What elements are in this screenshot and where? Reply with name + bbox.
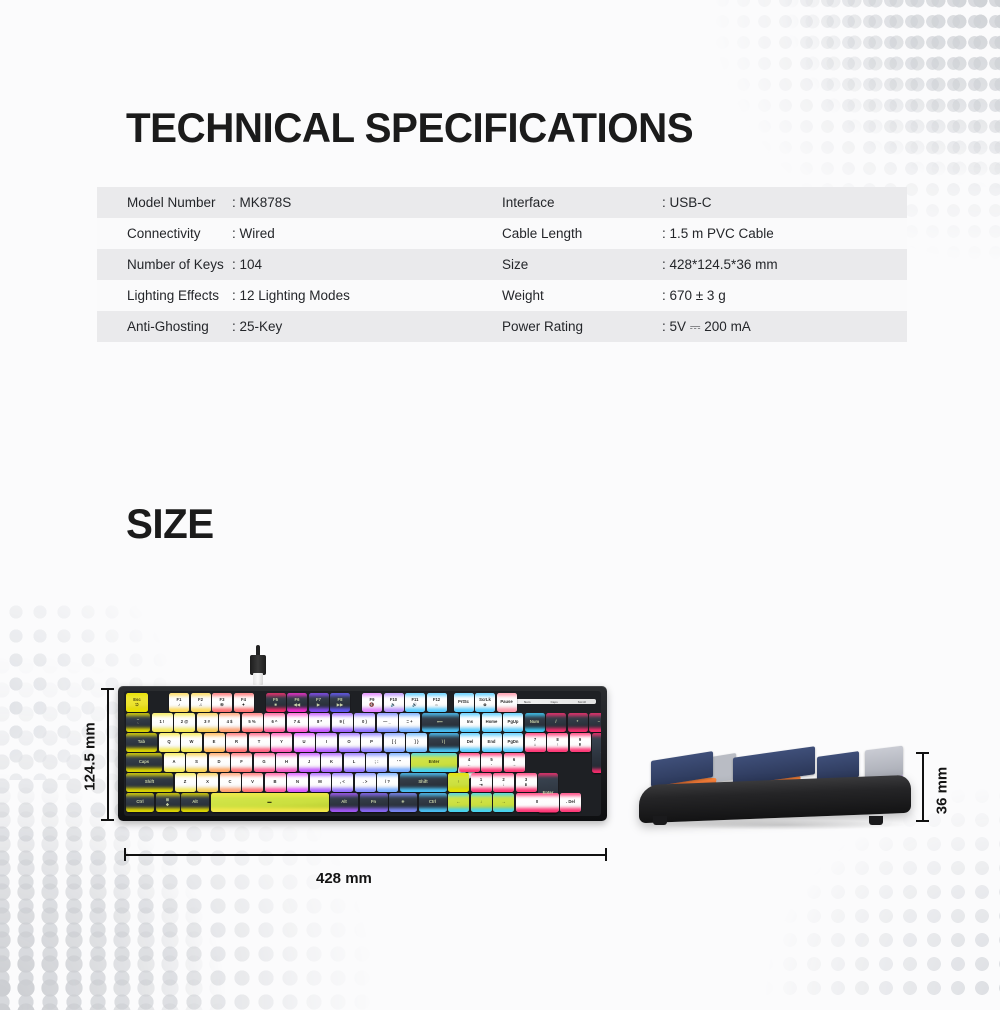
key-rgb-glow: [299, 768, 320, 772]
keycap-legend: Y: [280, 740, 283, 745]
spec-label-left: Model Number: [97, 195, 232, 210]
keycap[interactable]: K: [321, 753, 342, 772]
key-rgb-glow: [354, 728, 375, 732]
keycap[interactable]: M: [310, 773, 331, 792]
key-rgb-glow-top: [419, 793, 447, 796]
key-rgb-glow-top: [126, 713, 150, 716]
keycap[interactable]: F9 🔇: [362, 693, 382, 712]
key-rgb-glow-top: [266, 693, 286, 696]
key-spacer: [352, 693, 361, 712]
keycap[interactable]: Num: [525, 713, 545, 732]
key-rgb-glow: [181, 808, 209, 812]
spec-row: Number of Keys: 104Size: 428*124.5*36 mm: [97, 249, 907, 280]
keycap-legend: ScrLk ⊗: [479, 698, 491, 708]
keycap[interactable]: Alt: [330, 793, 358, 812]
keycap[interactable]: F3 ✇: [212, 693, 232, 712]
keycap-legend: V: [251, 780, 254, 785]
key-rgb-glow-top: [570, 733, 591, 736]
keycap[interactable]: 3 #: [197, 713, 218, 732]
key-rgb-glow-top: [560, 793, 581, 796]
keycap-legend: ☀: [401, 800, 405, 805]
key-rgb-glow: [181, 748, 202, 752]
key-rgb-glow-top: [354, 713, 375, 716]
keycap[interactable]: ⟵: [422, 713, 459, 732]
keycap[interactable]: Del: [460, 733, 480, 752]
keycap-legend: ↓: [480, 800, 482, 805]
key-rgb-glow-top: [460, 713, 480, 716]
keycap[interactable]: = +: [399, 713, 420, 732]
key-rgb-glow: [459, 768, 480, 772]
keycap-legend: C: [228, 780, 231, 785]
keycap[interactable]: Enter: [411, 753, 457, 772]
keycap[interactable]: 4 $: [219, 713, 240, 732]
spec-label-right: Weight: [502, 288, 662, 303]
key-rgb-glow-top: [175, 773, 196, 776]
keycap[interactable]: ☀: [389, 793, 417, 812]
key-rgb-glow-top: [197, 773, 218, 776]
key-rgb-glow-top: [384, 693, 404, 696]
keycap[interactable]: F2 ♫: [191, 693, 211, 712]
key-rgb-glow: [316, 748, 337, 752]
key-rgb-glow: [454, 708, 474, 712]
key-rgb-glow: [169, 708, 189, 712]
keycap-legend: PgDn: [508, 740, 519, 745]
keycap[interactable]: 4 ←: [459, 753, 480, 772]
keycap[interactable]: ↓: [471, 793, 492, 812]
key-rgb-glow: [422, 728, 459, 732]
keycap-legend: F5 ■: [273, 698, 278, 708]
keycap-legend: 1 ⇥: [479, 778, 483, 788]
spec-value-right: : USB-C: [662, 195, 902, 210]
keycap-legend: 2 ↓: [502, 778, 504, 788]
keycap[interactable]: *: [568, 713, 588, 732]
key-rgb-glow-top: [309, 693, 329, 696]
usb-connector-tip: [253, 673, 263, 685]
key-rgb-glow: [377, 788, 398, 792]
keycap-legend: ↑: [457, 780, 459, 785]
keycap[interactable]: 9 (: [332, 713, 353, 732]
key-rgb-glow: [497, 708, 517, 712]
keycap[interactable]: H: [276, 753, 297, 772]
key-rgb-glow-top: [332, 713, 353, 716]
keyboard-foot-right: [869, 816, 883, 825]
keyboard-side-view: [637, 738, 917, 830]
keycap[interactable]: F12 ☼: [427, 693, 447, 712]
key-rgb-glow-top: [384, 733, 405, 736]
keycap[interactable]: F10 🔉: [384, 693, 404, 712]
key-rgb-glow-top: [211, 793, 329, 796]
keycap[interactable]: F8 ▶▶: [330, 693, 350, 712]
keycap-legend: / ?: [385, 780, 390, 785]
spec-value-right: : 5V ⎓ 200 mA: [662, 319, 902, 335]
keycap[interactable]: / ?: [377, 773, 398, 792]
key-rgb-glow-top: [547, 733, 568, 736]
keycap-legend: F9 🔇: [369, 698, 374, 708]
keycap[interactable]: F4 ✦: [234, 693, 254, 712]
keycap[interactable]: ▬: [211, 793, 329, 812]
key-rgb-glow: [560, 808, 581, 812]
keycap[interactable]: 5 %: [242, 713, 263, 732]
keycap[interactable]: /: [546, 713, 566, 732]
keycap[interactable]: S: [186, 753, 207, 772]
height-dimension-line: [107, 688, 109, 821]
keycap[interactable]: X: [197, 773, 218, 792]
keycap-legend: 6 →: [512, 758, 516, 768]
key-rgb-glow: [126, 748, 157, 752]
keycap-legend: F: [240, 760, 243, 765]
key-rgb-glow: [220, 788, 241, 792]
keycap[interactable]: — _: [377, 713, 398, 732]
key-rgb-glow: [482, 748, 502, 752]
key-rgb-glow-top: [471, 793, 492, 796]
key-rgb-glow-top: [242, 773, 263, 776]
key-rgb-glow: [310, 788, 331, 792]
key-rgb-glow: [592, 769, 601, 773]
key-rgb-glow-top: [362, 693, 382, 696]
keycap[interactable]: F6 ◀◀: [287, 693, 307, 712]
keycap[interactable]: Tab: [126, 733, 157, 752]
key-rgb-glow: [482, 728, 502, 732]
keycap[interactable]: W: [181, 733, 202, 752]
keycap[interactable]: Ctrl: [126, 793, 154, 812]
keycap[interactable]: U: [294, 733, 315, 752]
key-rgb-glow: [400, 788, 447, 792]
key-rgb-glow-top: [186, 753, 207, 756]
keycap-legend: Num: [530, 720, 539, 725]
keycap[interactable]: ⊞ ❖: [156, 793, 180, 812]
keycap[interactable]: −: [589, 713, 601, 732]
spec-label-right: Interface: [502, 195, 662, 210]
key-rgb-glow-top: [471, 773, 492, 776]
key-rgb-glow: [164, 768, 185, 772]
keycap-legend: 9 (: [340, 720, 345, 725]
keycap[interactable]: E: [204, 733, 225, 752]
keycap[interactable]: 1 !: [152, 713, 173, 732]
keycap[interactable]: Fn: [360, 793, 388, 812]
keycap-legend: H: [285, 760, 288, 765]
keyboard-top-view: NumCapsScroll Esc ⎋F1 ♪F2 ♫F3 ✇F4 ✦F5 ■F…: [118, 686, 607, 821]
keycap[interactable]: 8 ↑: [547, 733, 568, 752]
keycap[interactable]: G: [254, 753, 275, 772]
keycap-legend: G: [262, 760, 265, 765]
keycap[interactable]: B: [265, 773, 286, 792]
key-rgb-glow: [361, 748, 382, 752]
keycap-legend: 7 &: [294, 720, 301, 725]
key-rgb-glow: [427, 708, 447, 712]
keycap[interactable]: 2 ↓: [493, 773, 514, 792]
key-rgb-glow: [589, 728, 601, 732]
keycap-legend: −: [598, 720, 600, 725]
keycap[interactable]: F: [231, 753, 252, 772]
keycap[interactable]: Ctrl: [419, 793, 447, 812]
keycap-legend: T: [258, 740, 261, 745]
keycap[interactable]: 6 →: [504, 753, 525, 772]
keycap-legend: F12 ☼: [433, 698, 440, 708]
keycap[interactable]: Caps: [126, 753, 162, 772]
key-rgb-glow: [287, 728, 308, 732]
spec-label-left: Number of Keys: [97, 257, 232, 272]
keycap[interactable]: Ins: [460, 713, 480, 732]
keyboard-number-row: ~ `1 !2 @3 #4 $5 %6 ^7 &8 *9 (0 )— _= +⟵…: [126, 713, 601, 732]
key-rgb-glow-top: [309, 713, 330, 716]
keycap[interactable]: Y: [271, 733, 292, 752]
spec-value-left: : 104: [232, 257, 502, 272]
key-rgb-glow: [276, 768, 297, 772]
keycap[interactable]: F7 ▶: [309, 693, 329, 712]
key-rgb-glow-top: [126, 773, 173, 776]
keycap-legend: ; :: [375, 760, 379, 765]
key-rgb-glow: [197, 788, 218, 792]
key-rgb-glow-top: [546, 713, 566, 716]
key-rgb-glow: [287, 788, 308, 792]
key-rgb-glow: [384, 748, 405, 752]
key-rgb-glow: [471, 788, 492, 792]
key-rgb-glow: [242, 728, 263, 732]
keycap[interactable]: O: [339, 733, 360, 752]
key-rgb-glow-top: [265, 773, 286, 776]
key-rgb-glow-top: [231, 753, 252, 756]
keycap[interactable]: PrtSc: [454, 693, 474, 712]
keycap-legend: ⟵: [437, 720, 443, 725]
keycap-legend: F2 ♫: [198, 698, 203, 708]
keycap-legend: . >: [363, 780, 368, 785]
key-rgb-glow-top: [164, 753, 185, 756]
keycap-legend: 9 ⇞: [578, 738, 582, 748]
keycap-legend: 5 %: [248, 720, 255, 725]
keycap[interactable]: C: [220, 773, 241, 792]
keyboard-function-row: Esc ⎋F1 ♪F2 ♫F3 ✇F4 ✦F5 ■F6 ◀◀F7 ▶F8 ▶▶F…: [126, 693, 517, 712]
key-rgb-glow-top: [344, 753, 365, 756]
keycap[interactable]: F5 ■: [266, 693, 286, 712]
key-rgb-glow: [294, 748, 315, 752]
key-rgb-glow: [186, 768, 207, 772]
key-rgb-glow: [405, 708, 425, 712]
key-rgb-glow: [493, 788, 514, 792]
keycap-legend: 0 ): [362, 720, 367, 725]
halftone-pattern-top-right-dense: [760, 0, 1000, 200]
key-rgb-glow-top: [321, 753, 342, 756]
keycap[interactable]: →: [493, 793, 514, 812]
key-rgb-glow: [504, 768, 525, 772]
keycap[interactable]: N: [287, 773, 308, 792]
key-rgb-glow: [264, 728, 285, 732]
keycap-legend: \ |: [442, 740, 446, 745]
keycap[interactable]: D: [209, 753, 230, 772]
key-rgb-glow: [355, 788, 376, 792]
keycap-legend: 0: [536, 800, 538, 805]
key-rgb-glow: [525, 748, 546, 752]
keycap[interactable]: 8 *: [309, 713, 330, 732]
keycap[interactable]: V: [242, 773, 263, 792]
keycap-legend: — _: [383, 720, 391, 725]
spec-label-right: Cable Length: [502, 226, 662, 241]
key-rgb-glow-top: [287, 773, 308, 776]
led-indicator-label: Caps: [550, 700, 557, 704]
key-rgb-glow-top: [181, 793, 209, 796]
keycap-legend: K: [330, 760, 333, 765]
key-rgb-glow: [546, 728, 566, 732]
keycap[interactable]: A: [164, 753, 185, 772]
keycap-legend: E: [213, 740, 216, 745]
keycap-legend: 4 $: [227, 720, 233, 725]
keycap[interactable]: Q: [159, 733, 180, 752]
key-rgb-glow-top: [339, 733, 360, 736]
spec-value-left: : 25-Key: [232, 319, 502, 334]
keycap-legend: I: [326, 740, 327, 745]
key-rgb-glow-top: [538, 773, 558, 776]
keycap[interactable]: 6 ^: [264, 713, 285, 732]
spec-value-right: : 428*124.5*36 mm: [662, 257, 902, 272]
key-rgb-glow: [448, 788, 469, 792]
keycap[interactable]: L: [344, 753, 365, 772]
key-rgb-glow-top: [126, 693, 148, 696]
keycap[interactable]: R: [226, 733, 247, 752]
key-rgb-glow-top: [249, 733, 270, 736]
keycap[interactable]: ' ": [389, 753, 410, 772]
keycap[interactable]: 9 ⇞: [570, 733, 591, 752]
width-dimension-cap-left: [124, 848, 126, 861]
key-rgb-glow-top: [197, 713, 218, 716]
key-rgb-glow: [362, 708, 382, 712]
keycap[interactable]: Shift: [126, 773, 173, 792]
keycap[interactable]: 5 ·: [481, 753, 502, 772]
key-rgb-glow: [309, 728, 330, 732]
key-rgb-glow-top: [212, 693, 232, 696]
key-rgb-glow-top: [589, 713, 601, 716]
keycap-legend: F8 ▶▶: [337, 698, 343, 708]
thickness-dimension-label: 36 mm: [934, 763, 951, 819]
keycap[interactable]: Shift: [400, 773, 447, 792]
width-dimension-cap-right: [605, 848, 607, 861]
key-rgb-glow-top: [377, 713, 398, 716]
key-rgb-glow-top: [592, 733, 601, 736]
height-dimension-cap-bottom: [101, 819, 114, 821]
key-rgb-glow: [156, 808, 180, 812]
keycap-legend: Shift: [418, 780, 427, 785]
spec-row: Lighting Effects: 12 Lighting ModesWeigh…: [97, 280, 907, 311]
spec-value-left: : Wired: [232, 226, 502, 241]
keycap[interactable]: T: [249, 733, 270, 752]
key-rgb-glow-top: [482, 733, 502, 736]
key-rgb-glow-top: [366, 753, 387, 756]
keycap[interactable]: Z: [175, 773, 196, 792]
keyboard-foot-left: [653, 816, 667, 825]
keyboard-home-row: CapsASDFGHJKL; :' "Enter4 ←5 ·6 →: [126, 753, 525, 772]
keycap-legend: [ {: [392, 740, 396, 745]
keycap[interactable]: . Del: [560, 793, 581, 812]
key-rgb-glow: [389, 768, 410, 772]
keycap[interactable]: ] }: [406, 733, 427, 752]
key-rgb-glow: [226, 748, 247, 752]
keycap[interactable]: ↑: [448, 773, 469, 792]
keycap[interactable]: 7 ⌂: [525, 733, 546, 752]
key-rgb-glow-top: [234, 693, 254, 696]
key-rgb-glow-top: [299, 753, 320, 756]
key-rgb-glow: [204, 748, 225, 752]
key-rgb-glow-top: [503, 733, 523, 736]
keycap[interactable]: 3 ⇟: [516, 773, 537, 792]
keycap[interactable]: End: [482, 733, 502, 752]
keycap-legend: PrtSc: [458, 700, 469, 705]
key-rgb-glow-top: [330, 793, 358, 796]
keycap[interactable]: ~ `: [126, 713, 150, 732]
key-rgb-glow-top: [287, 713, 308, 716]
key-rgb-glow-top: [493, 793, 514, 796]
keycap[interactable]: Esc ⎋: [126, 693, 148, 712]
keycap[interactable]: F11 🔊: [405, 693, 425, 712]
specifications-table: Model Number: MK878SInterface: USB-CConn…: [97, 187, 907, 342]
keycap-legend: Enter: [429, 760, 440, 765]
key-rgb-glow: [126, 728, 150, 732]
keycap[interactable]: 0: [516, 793, 559, 812]
spec-value-right: : 670 ± 3 g: [662, 288, 902, 303]
keycap[interactable]: , <: [332, 773, 353, 792]
key-rgb-glow-top: [568, 713, 588, 716]
width-dimension-line: [124, 854, 607, 856]
key-rgb-glow: [377, 728, 398, 732]
key-rgb-glow: [570, 748, 591, 752]
led-indicator-label: Scroll: [578, 700, 586, 704]
keycap[interactable]: PgUp: [503, 713, 523, 732]
key-rgb-glow-top: [242, 713, 263, 716]
key-rgb-glow-top: [504, 753, 525, 756]
keycap-legend: F4 ✦: [241, 698, 246, 708]
keycap[interactable]: ScrLk ⊗: [475, 693, 495, 712]
keycap-legend: 8 *: [317, 720, 322, 725]
keycap[interactable]: P: [361, 733, 382, 752]
keycap[interactable]: ←: [448, 793, 469, 812]
keycap[interactable]: \ |: [429, 733, 459, 752]
keycap[interactable]: Pause: [497, 693, 517, 712]
keycap[interactable]: F1 ♪: [169, 693, 189, 712]
key-rgb-glow: [406, 748, 427, 752]
key-rgb-glow-top: [169, 693, 189, 696]
keycap[interactable]: ; :: [366, 753, 387, 772]
key-rgb-glow-top: [481, 753, 502, 756]
keycap[interactable]: Home: [482, 713, 502, 732]
key-rgb-glow-top: [220, 773, 241, 776]
keycap[interactable]: PgDn: [503, 733, 523, 752]
keycap[interactable]: J: [299, 753, 320, 772]
keycap-legend: U: [302, 740, 305, 745]
keycap[interactable]: Alt: [181, 793, 209, 812]
key-rgb-glow-top: [377, 773, 398, 776]
key-rgb-glow-top: [389, 793, 417, 796]
key-spacer: [150, 693, 168, 712]
spec-value-right: : 1.5 m PVC Cable: [662, 226, 902, 241]
keycap-legend: J: [308, 760, 310, 765]
key-rgb-glow-top: [361, 733, 382, 736]
keycap[interactable]: +: [592, 733, 601, 773]
keycap[interactable]: 0 ): [354, 713, 375, 732]
spec-row: Model Number: MK878SInterface: USB-C: [97, 187, 907, 218]
key-rgb-glow-top: [454, 693, 474, 696]
keycap[interactable]: 1 ⇥: [471, 773, 492, 792]
keycap[interactable]: 2 @: [174, 713, 195, 732]
key-rgb-glow: [126, 788, 173, 792]
keycap-legend: 5 ·: [490, 758, 492, 768]
key-rgb-glow-top: [460, 733, 480, 736]
key-rgb-glow: [197, 728, 218, 732]
keycap-legend: F7 ▶: [316, 698, 321, 708]
keycap-legend: Shift: [145, 780, 154, 785]
keycap[interactable]: [ {: [384, 733, 405, 752]
keycap[interactable]: 7 &: [287, 713, 308, 732]
keycap-legend: Alt: [341, 800, 347, 805]
keycap[interactable]: . >: [355, 773, 376, 792]
keycap[interactable]: I: [316, 733, 337, 752]
key-rgb-glow: [448, 808, 469, 812]
